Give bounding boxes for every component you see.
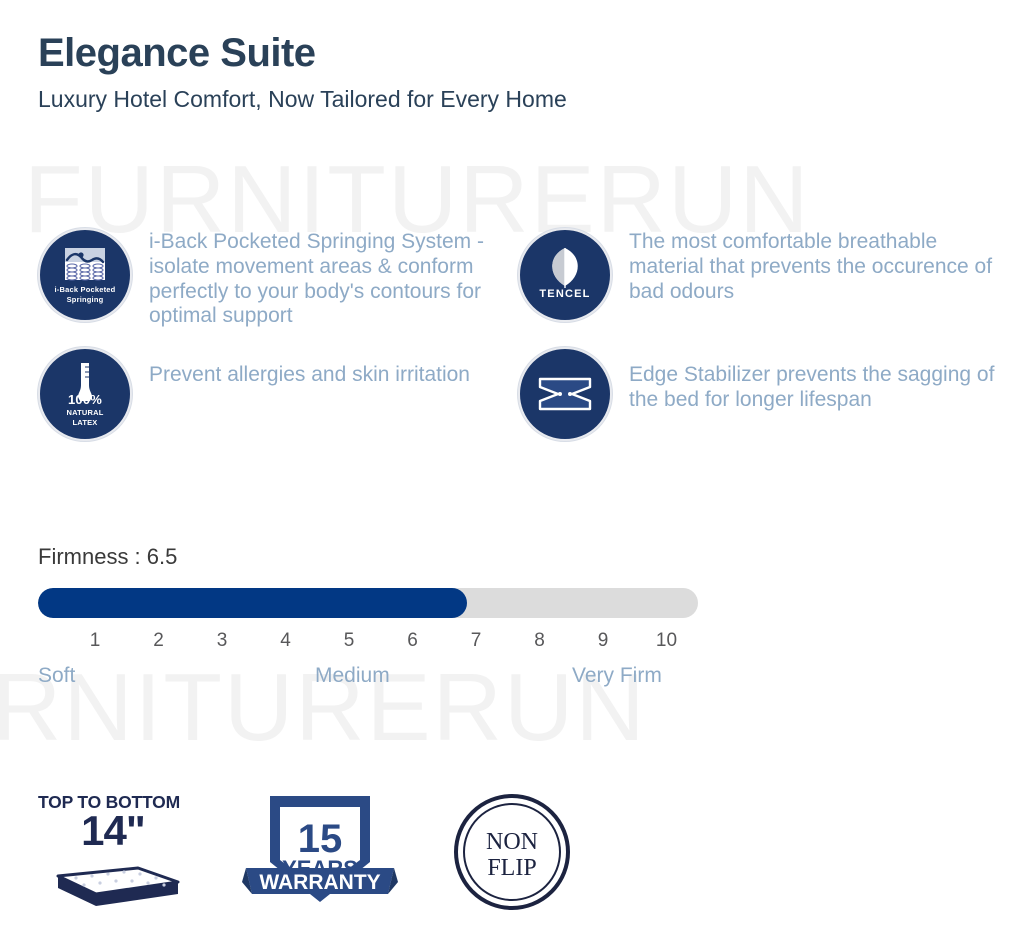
firmness-scale-number: 8 xyxy=(534,630,545,652)
feature-item: Edge Stabilizer prevents the sagging of … xyxy=(518,347,998,441)
firmness-scale-number: 9 xyxy=(598,630,609,652)
icon-caption: TENCEL xyxy=(520,288,610,302)
non-flip-seal-icon: NON FLIP xyxy=(452,792,572,912)
icon-caption: 100% NATURAL LATEX xyxy=(40,392,130,427)
firmness-slider[interactable] xyxy=(38,588,698,618)
feature-item: TENCEL The most comfortable breathable m… xyxy=(518,228,998,329)
warranty-badge: 15 YEARS WARRANTY xyxy=(240,790,400,919)
page-title: Elegance Suite xyxy=(38,30,567,76)
icon-caption: i-Back PocketedSpringing xyxy=(40,285,130,304)
non-flip-line1: NON xyxy=(486,829,538,855)
warranty-years: 15 xyxy=(298,817,343,861)
firmness-scale-number: 6 xyxy=(407,630,418,652)
firmness-scale-number: 10 xyxy=(656,630,677,652)
feature-item: 100% NATURAL LATEX Prevent allergies and… xyxy=(38,347,518,441)
scale-label-soft: Soft xyxy=(38,664,75,688)
warranty-ribbon-label: WARRANTY xyxy=(259,871,380,894)
feature-item: i-Back PocketedSpringing i-Back Pocketed… xyxy=(38,228,518,329)
feature-list: i-Back PocketedSpringing i-Back Pocketed… xyxy=(38,228,998,459)
edge-stabilizer-icon xyxy=(518,347,612,441)
firmness-label: Firmness : 6.5 xyxy=(38,544,698,570)
firmness-scale-number: 3 xyxy=(217,630,228,652)
scale-label-medium: Medium xyxy=(315,664,390,688)
i-back-pocketed-springing-icon: i-Back PocketedSpringing xyxy=(38,228,132,322)
firmness-section: Firmness : 6.5 12345678910 Soft Medium V… xyxy=(38,544,698,694)
warranty-shield-icon: 15 YEARS WARRANTY xyxy=(240,790,400,914)
page-header: Elegance Suite Luxury Hotel Comfort, Now… xyxy=(38,30,567,114)
firmness-scale-numbers: 12345678910 xyxy=(38,630,698,656)
firmness-scale-number: 2 xyxy=(153,630,164,652)
non-flip-badge: NON FLIP xyxy=(452,792,572,917)
feature-text: The most comfortable breathable material… xyxy=(629,228,998,304)
firmness-scale-number: 5 xyxy=(344,630,355,652)
badge-row: TOP TO BOTTOM 14" 15 YEARS xyxy=(38,790,624,919)
feature-text: i-Back Pocketed Springing System - isola… xyxy=(149,228,518,329)
mattress-icon xyxy=(38,850,188,912)
tencel-logo-icon: TENCEL xyxy=(518,228,612,322)
natural-latex-icon: 100% NATURAL LATEX xyxy=(38,347,132,441)
non-flip-line2: FLIP xyxy=(487,855,536,881)
top-to-bottom-size: 14" xyxy=(38,811,188,851)
firmness-slider-fill xyxy=(38,588,467,618)
firmness-scale-number: 7 xyxy=(471,630,482,652)
feature-text: Edge Stabilizer prevents the sagging of … xyxy=(629,347,998,413)
feature-text: Prevent allergies and skin irritation xyxy=(149,347,470,388)
firmness-scale-words: Soft Medium Very Firm xyxy=(38,664,698,694)
firmness-scale-number: 4 xyxy=(280,630,291,652)
firmness-scale-number: 1 xyxy=(90,630,101,652)
page-subtitle: Luxury Hotel Comfort, Now Tailored for E… xyxy=(38,86,567,114)
scale-label-very-firm: Very Firm xyxy=(572,664,662,688)
top-to-bottom-badge: TOP TO BOTTOM 14" xyxy=(38,792,188,918)
